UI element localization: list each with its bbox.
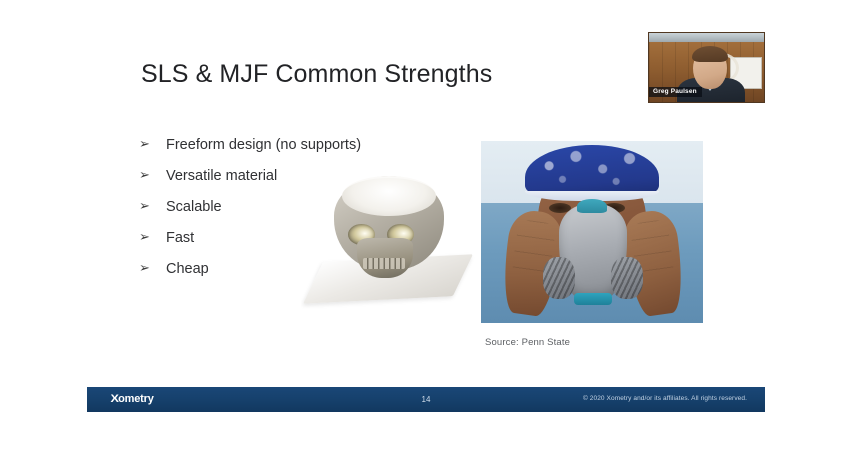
- bullet-label: Freeform design (no supports): [166, 137, 361, 153]
- healthcare-worker-respirator-photo: [481, 141, 703, 323]
- bullet-label: Versatile material: [166, 168, 277, 184]
- slide-title: SLS & MJF Common Strengths: [141, 60, 492, 89]
- arrow-bullet-icon: ➢: [139, 199, 166, 212]
- arrow-bullet-icon: ➢: [139, 230, 166, 243]
- bullet-label: Scalable: [166, 199, 222, 215]
- bullet-label: Fast: [166, 230, 194, 246]
- slide-footer-bar: Xometry 14 © 2020 Xometry and/or its aff…: [87, 387, 765, 412]
- photo-source-caption: Source: Penn State: [485, 337, 570, 348]
- bullet-item: ➢ Freeform design (no supports): [139, 137, 439, 168]
- respirator-chin-piece: [574, 293, 612, 305]
- respirator-filter-cartridge-left: [543, 257, 575, 299]
- presenter-webcam-tile[interactable]: Greg Paulsen: [648, 32, 765, 103]
- arrow-bullet-icon: ➢: [139, 261, 166, 274]
- arrow-bullet-icon: ➢: [139, 137, 166, 150]
- presenter-name-label: Greg Paulsen: [649, 87, 702, 97]
- respirator-nose-piece: [577, 199, 607, 213]
- arrow-bullet-icon: ➢: [139, 168, 166, 181]
- 3d-printed-skull-bowl-photo: [301, 172, 476, 312]
- webcam-ceiling: [649, 33, 764, 42]
- copyright-notice: © 2020 Xometry and/or its affiliates. Al…: [583, 395, 747, 402]
- presenter-hair: [692, 46, 728, 62]
- bullet-label: Cheap: [166, 261, 209, 277]
- respirator-filter-cartridge-right: [611, 257, 643, 299]
- skull-teeth: [363, 258, 405, 269]
- bowl-cavity: [342, 176, 436, 216]
